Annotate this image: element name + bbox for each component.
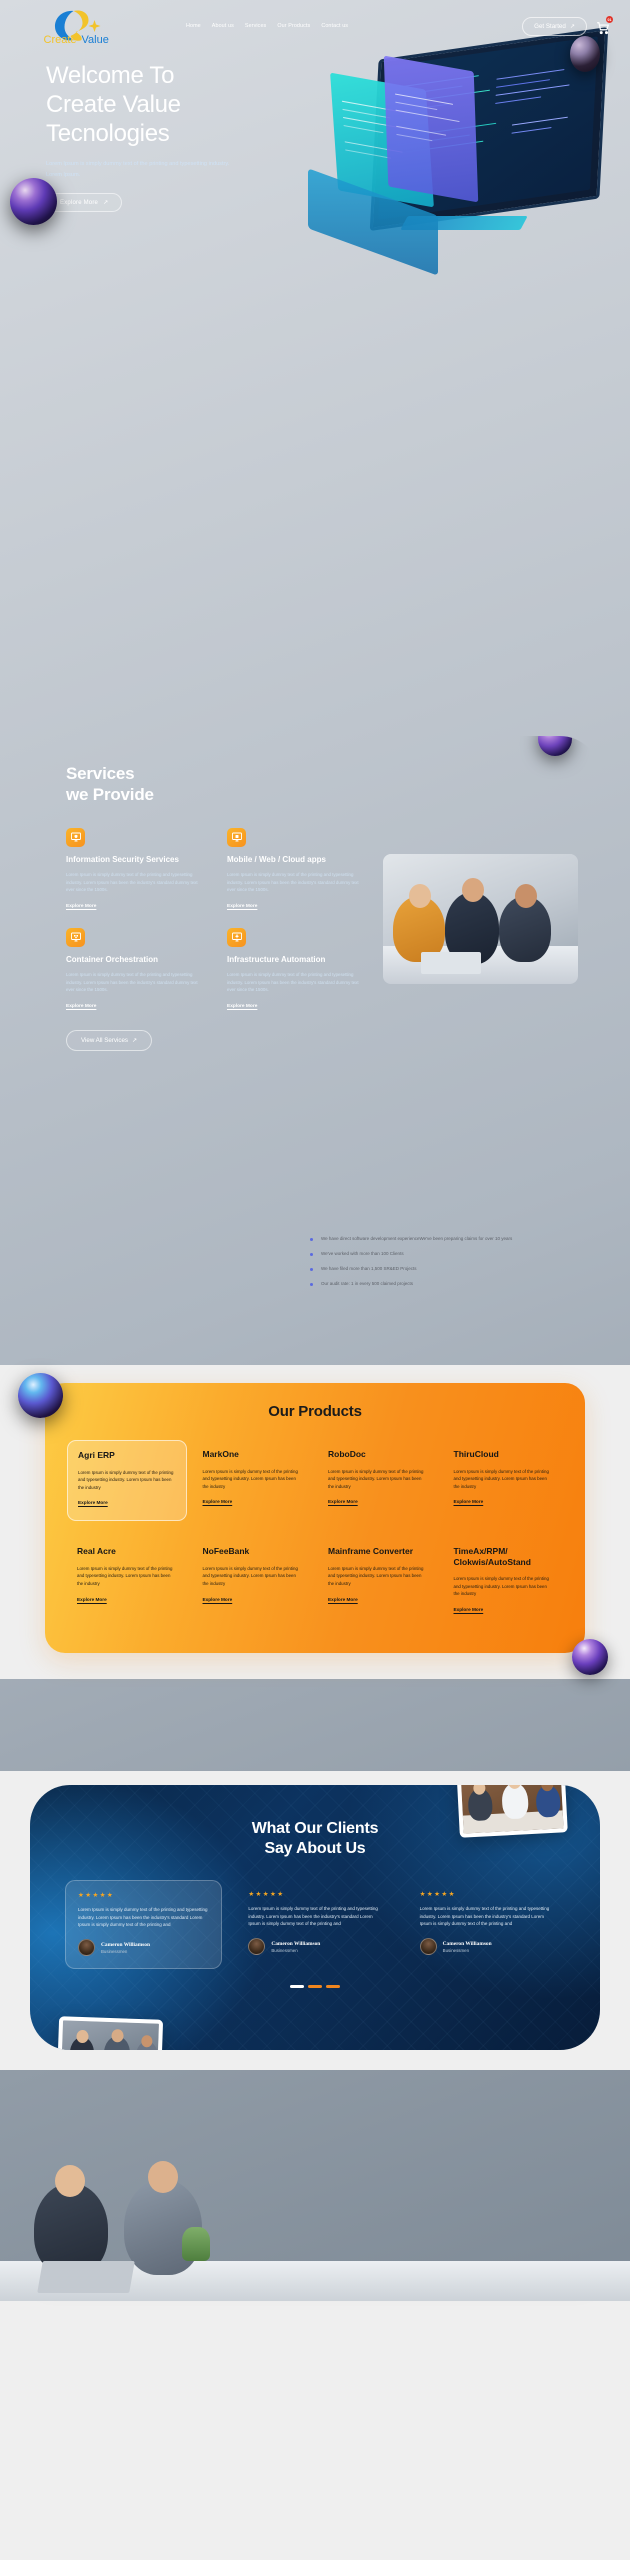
nav-actions: Get Started ↗ 01 xyxy=(522,17,610,36)
experience-section: Our Experience We specialize in Scientif… xyxy=(0,1150,630,1365)
services-title-line1: Services xyxy=(66,764,134,783)
cart-icon xyxy=(596,21,610,35)
experience-bullet: We've worked with more than 100 Clients xyxy=(308,1250,583,1258)
cart-badge: 01 xyxy=(606,16,613,23)
hero-title: Welcome To Create Value Tecnologies xyxy=(46,62,310,148)
product-name: RoboDoc xyxy=(328,1449,428,1459)
service-body: Lorem Ipsum is simply dummy text of the … xyxy=(66,871,205,894)
arrow-up-right-icon: ↗ xyxy=(132,1037,137,1044)
experience-bullet: We have direct software development expe… xyxy=(308,1235,583,1243)
services-grid: Information Security Services Lorem Ipsu… xyxy=(66,828,366,1012)
testimonial-role: Businessmen xyxy=(271,1948,320,1953)
nav-link-about[interactable]: About us xyxy=(212,23,234,29)
security-monitor-icon xyxy=(66,828,85,847)
service-body: Lorem Ipsum is simply dummy text of the … xyxy=(227,871,366,894)
hero-explore-button[interactable]: Explore More ↗ xyxy=(46,193,122,212)
products-container: Our Products Agri ERP Lorem Ipsum is sim… xyxy=(45,1383,585,1653)
service-body: Lorem Ipsum is simply dummy text of the … xyxy=(66,971,205,994)
product-name: Mainframe Converter xyxy=(328,1546,428,1556)
services-title: Services we Provide xyxy=(66,764,600,805)
rating-stars: ★★★★★ xyxy=(248,1890,381,1898)
product-explore-link[interactable]: Explore More xyxy=(454,1499,484,1504)
testimonials-container: What Our Clients Say About Us ★★★★★ Lore… xyxy=(30,1785,600,2050)
product-body: Lorem Ipsum is simply dummy text of the … xyxy=(78,1469,176,1492)
carousel-dots xyxy=(30,1985,600,1988)
product-card-markone[interactable]: MarkOne Lorem Ipsum is simply dummy text… xyxy=(193,1440,313,1521)
nav-link-services[interactable]: Services xyxy=(245,23,266,29)
products-title: Our Products xyxy=(67,1403,563,1420)
hero-title-line2: Create Value xyxy=(46,91,181,118)
hero-title-line3: Tecnologies xyxy=(46,120,169,147)
service-explore-link[interactable]: Explore More xyxy=(66,1004,96,1009)
avatar xyxy=(78,1939,95,1956)
infrastructure-automation-icon xyxy=(227,928,246,947)
product-body: Lorem Ipsum is simply dummy text of the … xyxy=(454,1468,554,1491)
testimonial-role: Businessmen xyxy=(101,1949,150,1954)
cart-button[interactable]: 01 xyxy=(596,18,610,34)
testimonials-photo-top xyxy=(456,1785,568,1838)
product-card-agri-erp[interactable]: Agri ERP Lorem Ipsum is simply dummy tex… xyxy=(67,1440,187,1521)
testimonials-title-line1: What Our Clients xyxy=(252,1820,379,1837)
service-explore-link[interactable]: Explore More xyxy=(227,904,257,909)
service-title: Information Security Services xyxy=(66,855,205,865)
hero-title-line1: Welcome To xyxy=(46,62,174,89)
testimonial-card[interactable]: ★★★★★ Lorem Ipsum is simply dummy text o… xyxy=(65,1880,222,1969)
service-title: Infrastructure Automation xyxy=(227,955,366,965)
landing-page: Create Value Home About us Services Our … xyxy=(0,0,630,2301)
service-item-container-orchestration[interactable]: Container Orchestration Lorem Ipsum is s… xyxy=(66,928,205,1012)
service-explore-link[interactable]: Explore More xyxy=(227,1004,257,1009)
products-section: Our Products Agri ERP Lorem Ipsum is sim… xyxy=(0,1365,630,1679)
experience-photo xyxy=(40,1164,290,1339)
service-body: Lorem Ipsum is simply dummy text of the … xyxy=(227,971,366,994)
nav-link-products[interactable]: Our Products xyxy=(277,23,310,29)
testimonials-title-line2: Say About Us xyxy=(264,1840,365,1857)
service-explore-link[interactable]: Explore More xyxy=(66,904,96,909)
rating-stars: ★★★★★ xyxy=(420,1890,553,1898)
service-title: Container Orchestration xyxy=(66,955,205,965)
testimonial-name: Cameron Williamson xyxy=(443,1941,492,1947)
get-started-button[interactable]: Get Started ↗ xyxy=(522,17,587,36)
product-explore-link[interactable]: Explore More xyxy=(77,1597,107,1602)
product-card-robodoc[interactable]: RoboDoc Lorem Ipsum is simply dummy text… xyxy=(318,1440,438,1521)
avatar xyxy=(248,1938,265,1955)
view-all-services-label: View All Services xyxy=(81,1037,128,1044)
testimonials-section: What Our Clients Say About Us ★★★★★ Lore… xyxy=(0,1771,630,2070)
product-explore-link[interactable]: Explore More xyxy=(328,1499,358,1504)
rating-stars: ★★★★★ xyxy=(78,1891,209,1899)
testimonial-card[interactable]: ★★★★★ Lorem Ipsum is simply dummy text o… xyxy=(408,1880,565,1969)
testimonial-quote: Lorem Ipsum is simply dummy text of the … xyxy=(78,1906,209,1929)
experience-bullet: Our audit rate: 1 in every 500 claimed p… xyxy=(308,1280,583,1288)
testimonials-grid: ★★★★★ Lorem Ipsum is simply dummy text o… xyxy=(65,1880,565,1969)
product-card-real-acre[interactable]: Real Acre Lorem Ipsum is simply dummy te… xyxy=(67,1537,187,1626)
product-explore-link[interactable]: Explore More xyxy=(203,1597,233,1602)
svg-text:Value: Value xyxy=(82,34,109,45)
carousel-dot[interactable] xyxy=(326,1985,340,1988)
carousel-dot[interactable] xyxy=(290,1985,304,1988)
main-navbar: Create Value Home About us Services Our … xyxy=(0,0,630,46)
testimonials-photo-bottom xyxy=(57,2016,163,2050)
nav-links: Home About us Services Our Products Cont… xyxy=(186,23,348,29)
product-explore-link[interactable]: Explore More xyxy=(328,1597,358,1602)
services-title-line2: we Provide xyxy=(66,785,154,804)
service-item-mobile-web-cloud[interactable]: Mobile / Web / Cloud apps Lorem Ipsum is… xyxy=(227,828,366,912)
avatar xyxy=(420,1938,437,1955)
hero-subtitle: Lorem Ipsum is simply dummy text of the … xyxy=(46,159,246,180)
hero-sphere-purple-decoration xyxy=(10,178,57,225)
testimonial-quote: Lorem Ipsum is simply dummy text of the … xyxy=(420,1905,553,1928)
arrow-up-right-icon: ↗ xyxy=(570,23,575,30)
products-sphere-right-decoration xyxy=(572,1639,608,1675)
product-body: Lorem Ipsum is simply dummy text of the … xyxy=(203,1468,303,1491)
arrow-up-right-icon: ↗ xyxy=(103,199,108,206)
service-item-infrastructure-automation[interactable]: Infrastructure Automation Lorem Ipsum is… xyxy=(227,928,366,1012)
product-explore-link[interactable]: Explore More xyxy=(203,1499,233,1504)
testimonial-name: Cameron Williamson xyxy=(101,1942,150,1948)
product-body: Lorem Ipsum is simply dummy text of the … xyxy=(77,1565,177,1588)
nav-link-home[interactable]: Home xyxy=(186,23,201,29)
service-title: Mobile / Web / Cloud apps xyxy=(227,855,366,865)
service-item-information-security[interactable]: Information Security Services Lorem Ipsu… xyxy=(66,828,205,912)
product-body: Lorem Ipsum is simply dummy text of the … xyxy=(454,1575,554,1598)
product-card-thirucloud[interactable]: ThiruCloud Lorem Ipsum is simply dummy t… xyxy=(444,1440,564,1521)
testimonial-quote: Lorem Ipsum is simply dummy text of the … xyxy=(248,1905,381,1928)
hero-explore-label: Explore More xyxy=(60,200,98,206)
product-name: ThiruCloud xyxy=(454,1449,554,1459)
testimonial-card[interactable]: ★★★★★ Lorem Ipsum is simply dummy text o… xyxy=(236,1880,393,1969)
product-body: Lorem Ipsum is simply dummy text of the … xyxy=(328,1565,428,1588)
product-explore-link[interactable]: Explore More xyxy=(78,1500,108,1505)
product-explore-link[interactable]: Explore More xyxy=(454,1607,484,1612)
product-body: Lorem Ipsum is simply dummy text of the … xyxy=(203,1565,303,1588)
container-orchestration-icon xyxy=(66,928,85,947)
mobile-web-cloud-icon xyxy=(227,828,246,847)
carousel-dot[interactable] xyxy=(308,1985,322,1988)
product-name: NoFeeBank xyxy=(203,1546,303,1556)
product-card-nofeebank[interactable]: NoFeeBank Lorem Ipsum is simply dummy te… xyxy=(193,1537,313,1626)
get-started-label: Get Started xyxy=(534,23,566,30)
products-grid: Agri ERP Lorem Ipsum is simply dummy tex… xyxy=(67,1440,563,1627)
testimonial-name: Cameron Williamson xyxy=(271,1941,320,1947)
product-card-mainframe-converter[interactable]: Mainframe Converter Lorem Ipsum is simpl… xyxy=(318,1537,438,1626)
logo[interactable]: Create Value xyxy=(42,7,118,45)
view-all-services-button[interactable]: View All Services ↗ xyxy=(66,1030,152,1051)
product-name: Agri ERP xyxy=(78,1450,176,1460)
product-name: TimeAx/RPM/ Clokwis/AutoStand xyxy=(454,1546,554,1567)
product-name: MarkOne xyxy=(203,1449,303,1459)
experience-bullet: We have filed more than 1,500 SR&ED Proj… xyxy=(308,1265,583,1273)
product-body: Lorem Ipsum is simply dummy text of the … xyxy=(328,1468,428,1491)
svg-text:Create: Create xyxy=(44,34,77,45)
product-card-timeax-rpm-clokwis-autostand[interactable]: TimeAx/RPM/ Clokwis/AutoStand Lorem Ipsu… xyxy=(444,1537,564,1626)
testimonial-role: Businessmen xyxy=(443,1948,492,1953)
services-photo xyxy=(383,854,578,984)
nav-link-contact[interactable]: Contact us xyxy=(321,23,348,29)
product-name: Real Acre xyxy=(77,1546,177,1556)
